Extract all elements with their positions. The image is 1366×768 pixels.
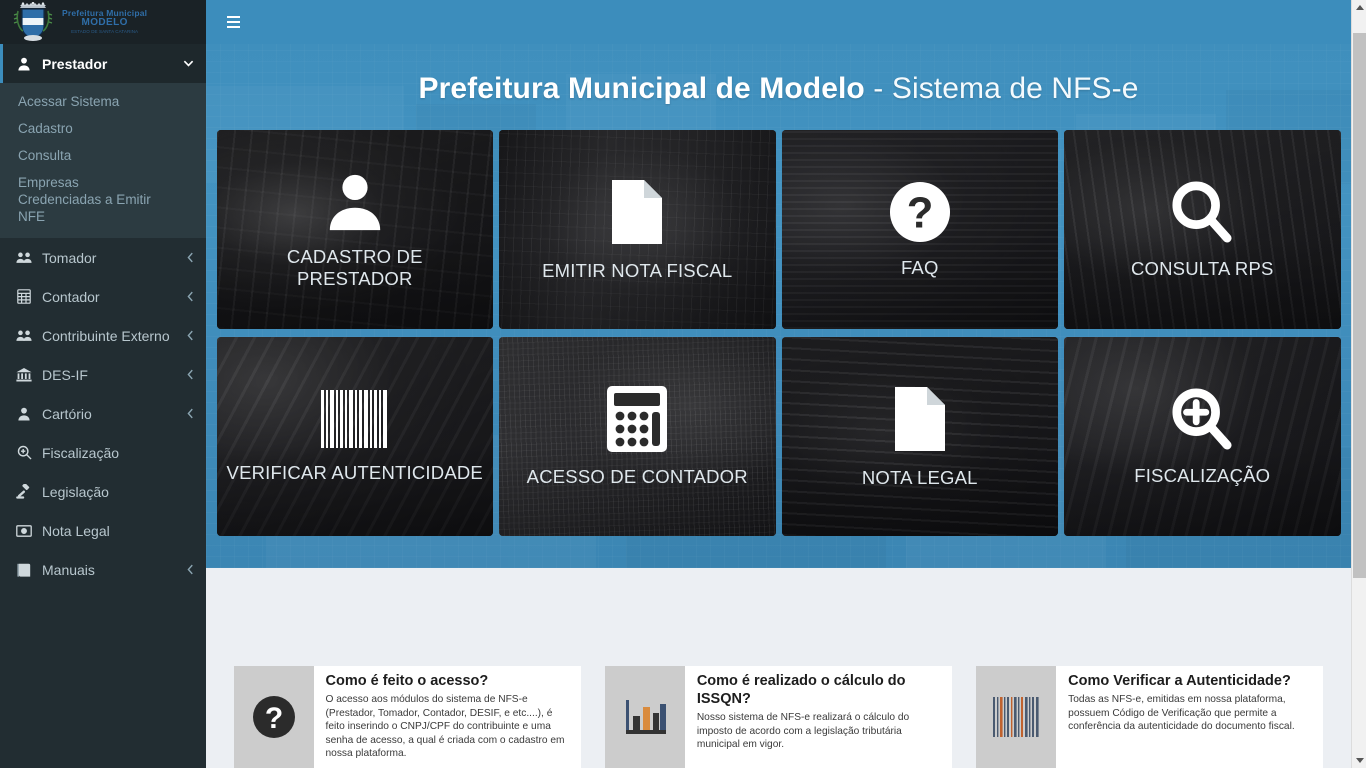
menu-toggle-icon[interactable]: [216, 7, 250, 37]
tile-nota-legal[interactable]: NOTA LEGAL: [782, 337, 1059, 536]
faq-body: Como é feito o acesso? O acesso aos módu…: [314, 666, 581, 768]
user-icon: [14, 407, 34, 421]
sidebar-item-label: Tomador: [42, 250, 187, 266]
faq-text: Nosso sistema de NFS-e realizará o cálcu…: [697, 711, 942, 752]
tile-cadastro-de-prestador[interactable]: CADASTRO DE PRESTADOR: [217, 130, 494, 329]
tile-verificar-autenticidade[interactable]: VERIFICAR AUTENTICIDADE: [217, 337, 494, 536]
tile-label: ACESSO DE CONTADOR: [517, 466, 758, 488]
tile-faq[interactable]: ? FAQ: [782, 130, 1059, 329]
bar-chart-icon: [622, 696, 668, 738]
chevron-left-icon: [187, 291, 194, 302]
faq-title: Como é realizado o cálculo do ISSQN?: [697, 672, 942, 708]
sidebar-subitem-consulta[interactable]: Consulta: [0, 142, 206, 169]
file-icon: [893, 385, 947, 453]
sidebar-item-label: Manuais: [42, 562, 187, 578]
faq-icon-box: [976, 666, 1056, 768]
chevron-down-icon: [183, 59, 194, 68]
sidebar-item-contador[interactable]: Contador: [0, 277, 206, 316]
sidebar-item-nota-legal[interactable]: Nota Legal: [0, 511, 206, 550]
users-icon: [14, 329, 34, 342]
page-title-bold: Prefeitura Municipal de Modelo: [418, 72, 864, 105]
tile-label: FISCALIZAÇÃO: [1124, 465, 1280, 487]
sidebar-subitem-acessar-sistema[interactable]: Acessar Sistema: [0, 88, 206, 115]
faq-card-row: ? Como é feito o acesso? O acesso aos mó…: [234, 568, 1324, 768]
brand-line-3: ESTADO DE SANTA CATARINA: [62, 30, 147, 35]
sidebar-item-tomador[interactable]: Tomador: [0, 238, 206, 277]
sidebar-subitem-cadastro[interactable]: Cadastro: [0, 115, 206, 142]
sidebar: Prefeitura Municipal MODELO ESTADO DE SA…: [0, 0, 206, 768]
faq-text: Todas as NFS-e, emitidas em nossa plataf…: [1068, 693, 1313, 734]
chevron-left-icon: [187, 252, 194, 263]
sidebar-item-cartorio[interactable]: Cartório: [0, 394, 206, 433]
sidebar-submenu-prestador: Acessar Sistema Cadastro Consulta Empres…: [0, 83, 206, 238]
sidebar-item-legislacao[interactable]: Legislação: [0, 472, 206, 511]
page-title: Prefeitura Municipal de Modelo - Sistema…: [206, 44, 1351, 108]
scroll-up-button[interactable]: [1352, 0, 1366, 15]
sidebar-item-label: Contador: [42, 289, 187, 305]
tile-acesso-de-contador[interactable]: ACESSO DE CONTADOR: [499, 337, 776, 536]
tile-label: NOTA LEGAL: [852, 467, 988, 489]
sidebar-item-des-if[interactable]: DES-IF: [0, 355, 206, 394]
svg-text:?: ?: [264, 702, 282, 735]
faq-card-como-e-feito-o-acesso[interactable]: ? Como é feito o acesso? O acesso aos mó…: [234, 666, 581, 768]
tile-label: FAQ: [891, 257, 949, 279]
faq-body: Como Verificar a Autenticidade? Todas as…: [1056, 666, 1323, 768]
book-icon: [14, 563, 34, 577]
sidebar-item-label: Prestador: [42, 56, 183, 72]
sidebar-item-label: Cartório: [42, 406, 187, 422]
tile-label: EMITIR NOTA FISCAL: [532, 260, 742, 282]
search-icon: [1171, 180, 1233, 244]
page-scrollbar[interactable]: [1351, 0, 1366, 768]
faq-icon-box: ?: [234, 666, 314, 768]
info-panel: ? Como é feito o acesso? O acesso aos mó…: [234, 568, 1324, 768]
sidebar-item-label: DES-IF: [42, 367, 187, 383]
faq-icon-box: [605, 666, 685, 768]
chevron-left-icon: [187, 369, 194, 380]
money-icon: [14, 525, 34, 537]
brand-line-2: MODELO: [62, 18, 147, 29]
coat-of-arms-icon: [10, 2, 56, 42]
user-icon: [324, 170, 386, 232]
gavel-icon: [14, 484, 34, 499]
sidebar-item-label: Contribuinte Externo: [42, 328, 187, 344]
question-circle-icon: ?: [252, 695, 296, 739]
tile-emitir-nota-fiscal[interactable]: EMITIR NOTA FISCAL: [499, 130, 776, 329]
sidebar-item-prestador[interactable]: Prestador: [0, 44, 206, 83]
tile-consulta-rps[interactable]: CONSULTA RPS: [1064, 130, 1341, 329]
file-icon: [610, 178, 664, 246]
page-root: Prefeitura Municipal MODELO ESTADO DE SA…: [0, 0, 1366, 768]
main-content: Prefeitura Municipal de Modelo - Sistema…: [206, 0, 1351, 768]
svg-text:?: ?: [906, 189, 933, 237]
chevron-left-icon: [187, 408, 194, 419]
faq-card-verificar-autenticidade[interactable]: Como Verificar a Autenticidade? Todas as…: [976, 666, 1323, 768]
question-circle-icon: ?: [889, 181, 951, 243]
barcode-icon: [993, 697, 1039, 737]
tile-label: VERIFICAR AUTENTICIDADE: [217, 462, 493, 484]
faq-title: Como Verificar a Autenticidade?: [1068, 672, 1313, 690]
tile-label: CADASTRO DE PRESTADOR: [217, 246, 494, 290]
users-icon: [14, 251, 34, 264]
sidebar-item-label: Legislação: [42, 484, 194, 500]
sidebar-item-manuais[interactable]: Manuais: [0, 550, 206, 589]
page-title-normal: - Sistema de NFS-e: [865, 72, 1139, 105]
barcode-icon: [321, 390, 389, 448]
tile-grid: CADASTRO DE PRESTADOR EMITIR NOTA FISCAL: [217, 130, 1341, 536]
tile-fiscalizacao[interactable]: FISCALIZAÇÃO: [1064, 337, 1341, 536]
sidebar-item-contribuinte-externo[interactable]: Contribuinte Externo: [0, 316, 206, 355]
chevron-left-icon: [187, 564, 194, 575]
faq-card-calculo-issqn[interactable]: Como é realizado o cálculo do ISSQN? Nos…: [605, 666, 952, 768]
scroll-down-button[interactable]: [1352, 753, 1366, 768]
bank-icon: [14, 368, 34, 382]
chevron-left-icon: [187, 330, 194, 341]
user-icon: [14, 57, 34, 71]
scrollbar-thumb[interactable]: [1353, 33, 1366, 578]
calculator-icon: [607, 386, 667, 452]
faq-title: Como é feito o acesso?: [326, 672, 571, 690]
sidebar-item-label: Fiscalização: [42, 445, 194, 461]
search-plus-icon: [1171, 387, 1233, 451]
sidebar-subitem-empresas-credenciadas[interactable]: Empresas Credenciadas a Emitir NFE: [0, 169, 170, 230]
calculator-icon: [14, 289, 34, 304]
hero-section: Prefeitura Municipal de Modelo - Sistema…: [206, 44, 1351, 568]
tile-label: CONSULTA RPS: [1121, 258, 1284, 280]
faq-text: O acesso aos módulos do sistema de NFS-e…: [326, 693, 571, 761]
top-navbar: [206, 0, 1351, 44]
sidebar-item-fiscalizacao[interactable]: Fiscalização: [0, 433, 206, 472]
faq-body: Como é realizado o cálculo do ISSQN? Nos…: [685, 666, 952, 768]
brand-logo[interactable]: Prefeitura Municipal MODELO ESTADO DE SA…: [0, 0, 206, 44]
sidebar-item-label: Nota Legal: [42, 523, 194, 539]
search-plus-icon: [14, 445, 34, 460]
